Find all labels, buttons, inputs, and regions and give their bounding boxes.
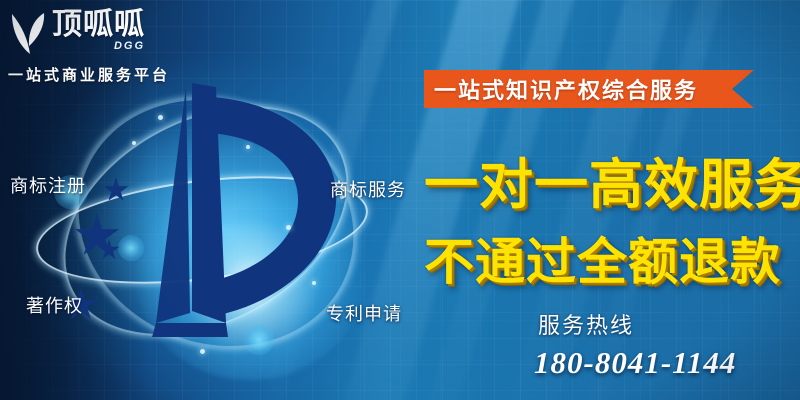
promo-banner: 顶呱呱 DGG 一站式商业服务平台 商标注册 著作权 商标服务 专利申请 一站式…	[0, 0, 800, 400]
vignette-overlay	[0, 0, 800, 400]
